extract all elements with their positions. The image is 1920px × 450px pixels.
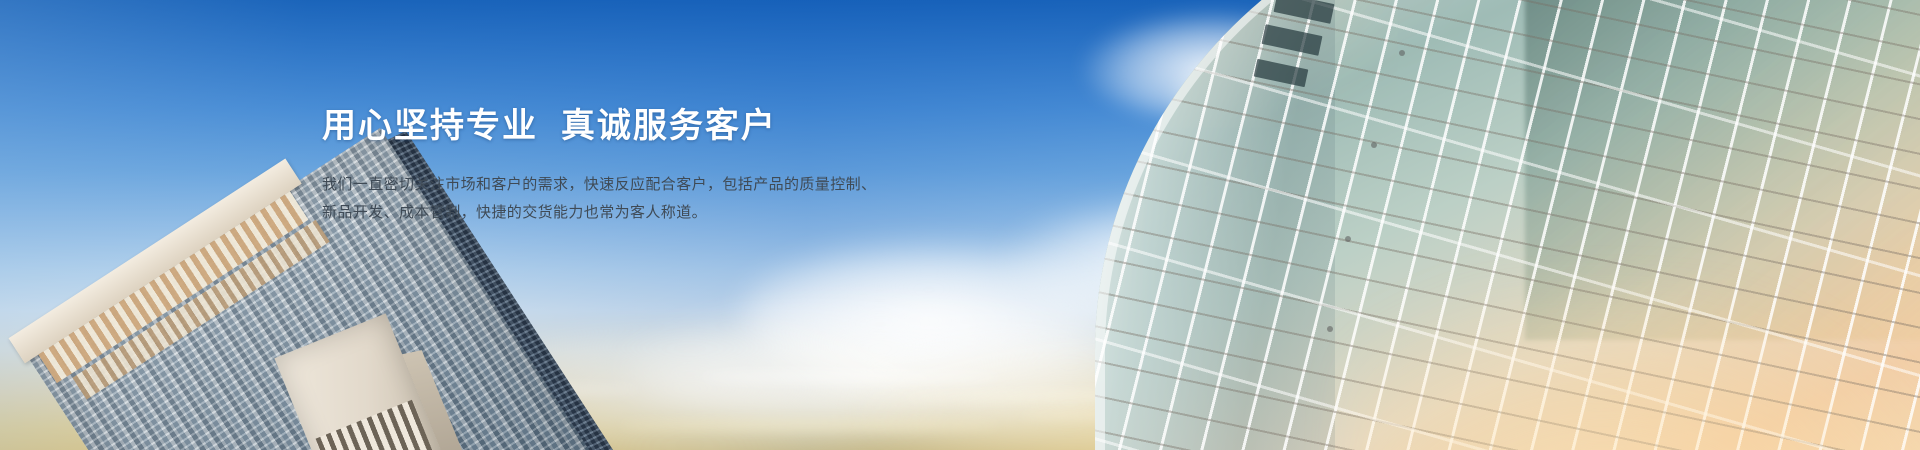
haze-streak (620, 420, 1000, 430)
banner-headline: 用心坚持专业 真诚服务客户 (322, 108, 882, 145)
tower-outer-edge (1095, 0, 1920, 450)
banner-body-line: 我们一直密切关注市场和客户的需求，快速反应配合客户，包括产品的质量控制、 (322, 171, 882, 199)
curved-glass-tower (1095, 0, 1920, 450)
banner-body: 我们一直密切关注市场和客户的需求，快速反应配合客户，包括产品的质量控制、 新品开… (322, 171, 882, 227)
haze-streak (700, 372, 1000, 382)
hero-banner: 用心坚持专业 真诚服务客户 我们一直密切关注市场和客户的需求，快速反应配合客户，… (0, 0, 1920, 450)
banner-copy: 用心坚持专业 真诚服务客户 我们一直密切关注市场和客户的需求，快速反应配合客户，… (322, 108, 882, 227)
banner-body-line: 新品开发、成本管制，快捷的交货能力也常为客人称道。 (322, 199, 882, 227)
